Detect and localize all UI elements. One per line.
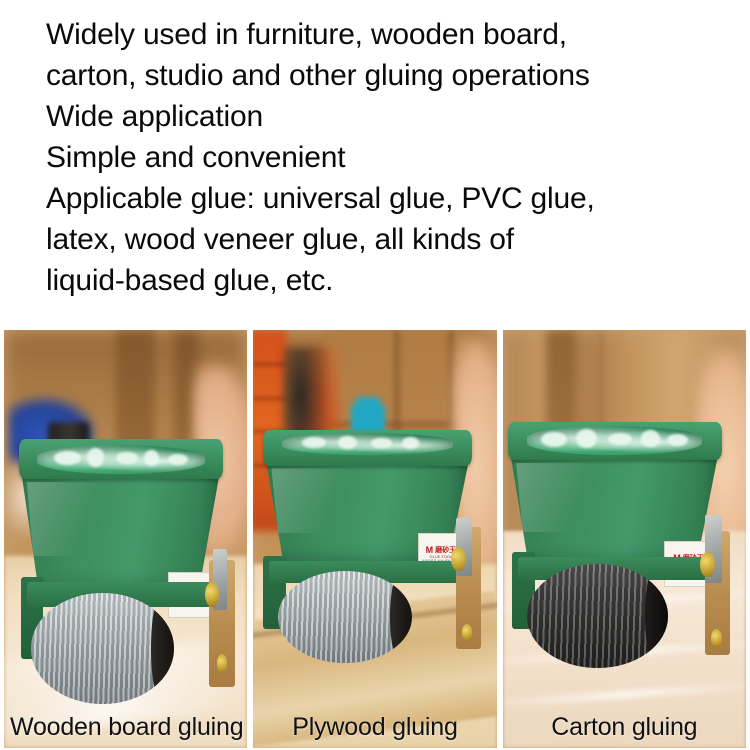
hopper-highlight: [271, 468, 355, 533]
feature-line: Applicable glue: universal glue, PVC glu…: [46, 178, 750, 219]
panel-caption: Carton gluing: [503, 713, 746, 742]
glue-hopper: M 磨砂王 GLUE TOOL 适用于家具 板材 纸箱 涂胶器 MADE IN …: [19, 439, 223, 593]
glue-roller-applicator: M 磨砂王 GLUE TOOL 适用于家具 板材 纸箱 涂胶器 MADE IN …: [263, 430, 472, 672]
glue-hopper: M 磨砂王 GLUE TOOL 适用于家具 板材 纸箱 涂胶器 MADE IN …: [508, 422, 722, 567]
panel-caption: Wooden board gluing: [4, 713, 247, 742]
photo-panel-carton: M 磨砂王 GLUE TOOL 适用于家具 板材 纸箱 涂胶器 MADE IN …: [503, 330, 746, 748]
feature-line: latex, wood veneer glue, all kinds of: [46, 219, 750, 260]
feature-line: Wide application: [46, 96, 750, 137]
glue-roller: [278, 571, 412, 663]
feature-text-block: Widely used in furniture, wooden board, …: [0, 0, 750, 330]
bracket-screw: [711, 629, 722, 647]
roller-end-cap: [151, 593, 174, 703]
bracket-screw: [205, 582, 219, 607]
product-photo-strip: M 磨砂王 GLUE TOOL 适用于家具 板材 纸箱 涂胶器 MADE IN …: [0, 330, 750, 750]
panel-caption: Plywood gluing: [253, 713, 496, 742]
roller-end-cap: [645, 564, 668, 668]
photo-panel-plywood: M 磨砂王 GLUE TOOL 适用于家具 板材 纸箱 涂胶器 MADE IN …: [253, 330, 496, 748]
feature-line: liquid-based glue, etc.: [46, 260, 750, 301]
glue-roller-applicator: M 磨砂王 GLUE TOOL 适用于家具 板材 纸箱 涂胶器 MADE IN …: [19, 439, 223, 715]
glue-roller-applicator: M 磨砂王 GLUE TOOL 适用于家具 板材 纸箱 涂胶器 MADE IN …: [508, 422, 722, 681]
glue-roller: [527, 564, 668, 668]
glue-hopper: M 磨砂王 GLUE TOOL 适用于家具 板材 纸箱 涂胶器 MADE IN …: [263, 430, 472, 566]
hopper-interior-glue: [527, 426, 703, 455]
photo-panel-wooden-board: M 磨砂王 GLUE TOOL 适用于家具 板材 纸箱 涂胶器 MADE IN …: [4, 330, 247, 748]
hopper-highlight: [516, 463, 602, 533]
product-feature-image: Widely used in furniture, wooden board, …: [0, 0, 750, 750]
roller-end-cap: [390, 571, 411, 663]
feature-line: carton, studio and other gluing operatio…: [46, 55, 750, 96]
feature-line: Simple and convenient: [46, 137, 750, 178]
hopper-interior-glue: [37, 445, 205, 474]
feature-line: Widely used in furniture, wooden board,: [46, 14, 750, 55]
hopper-interior-glue: [282, 433, 454, 455]
bracket-screw: [217, 654, 227, 673]
glue-roller: [31, 593, 174, 703]
hopper-highlight: [27, 482, 109, 556]
bracket-screw: [451, 547, 466, 571]
